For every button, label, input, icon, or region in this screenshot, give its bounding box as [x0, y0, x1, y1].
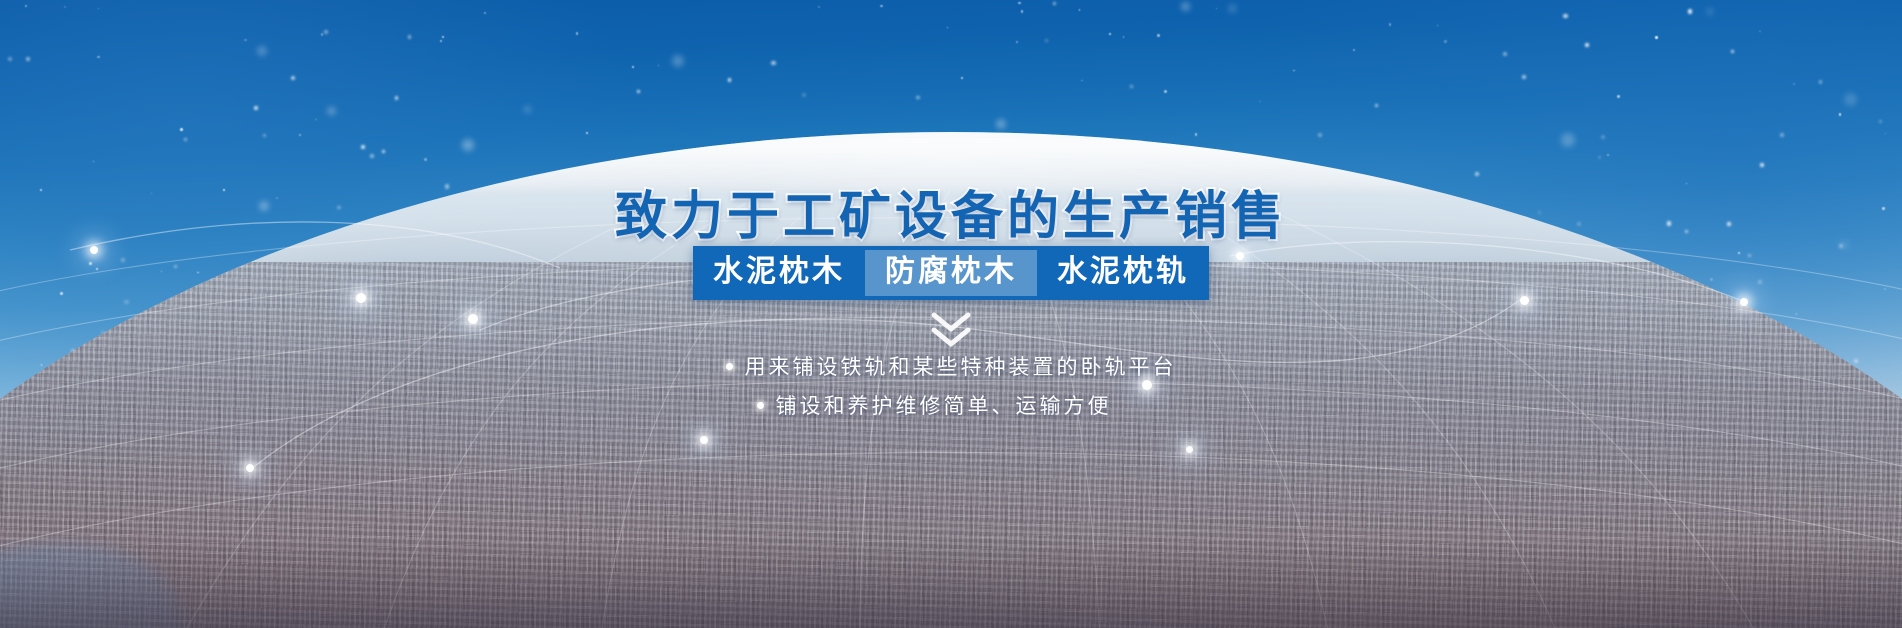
hero-content: 致力于工矿设备的生产销售 水泥枕木 防腐枕木 水泥枕轨 用来铺设铁轨和某些特种装…: [0, 0, 1902, 628]
bullet-text: 用来铺设铁轨和某些特种装置的卧轨平台: [745, 355, 1177, 379]
product-badge-cement-sleeper[interactable]: 水泥枕木: [693, 246, 865, 300]
product-badge-cement-rail[interactable]: 水泥枕轨: [1037, 246, 1209, 300]
page-title: 致力于工矿设备的生产销售: [0, 174, 1902, 249]
bullet-text: 铺设和养护维修简单、运输方便: [776, 394, 1112, 418]
list-item: 铺设和养护维修简单、运输方便: [0, 387, 1902, 426]
list-item: 用来铺设铁轨和某些特种装置的卧轨平台: [0, 348, 1902, 387]
product-badge-anticorrosive-sleeper[interactable]: 防腐枕木: [865, 250, 1037, 296]
feature-bullet-list: 用来铺设铁轨和某些特种装置的卧轨平台 铺设和养护维修简单、运输方便: [0, 348, 1902, 426]
product-badge-group: 水泥枕木 防腐枕木 水泥枕轨: [693, 246, 1209, 300]
hero-banner: 致力于工矿设备的生产销售 水泥枕木 防腐枕木 水泥枕轨 用来铺设铁轨和某些特种装…: [0, 0, 1902, 628]
bullet-dot-icon: [757, 402, 764, 409]
double-chevron-down-icon: [929, 310, 973, 350]
bullet-dot-icon: [726, 363, 733, 370]
